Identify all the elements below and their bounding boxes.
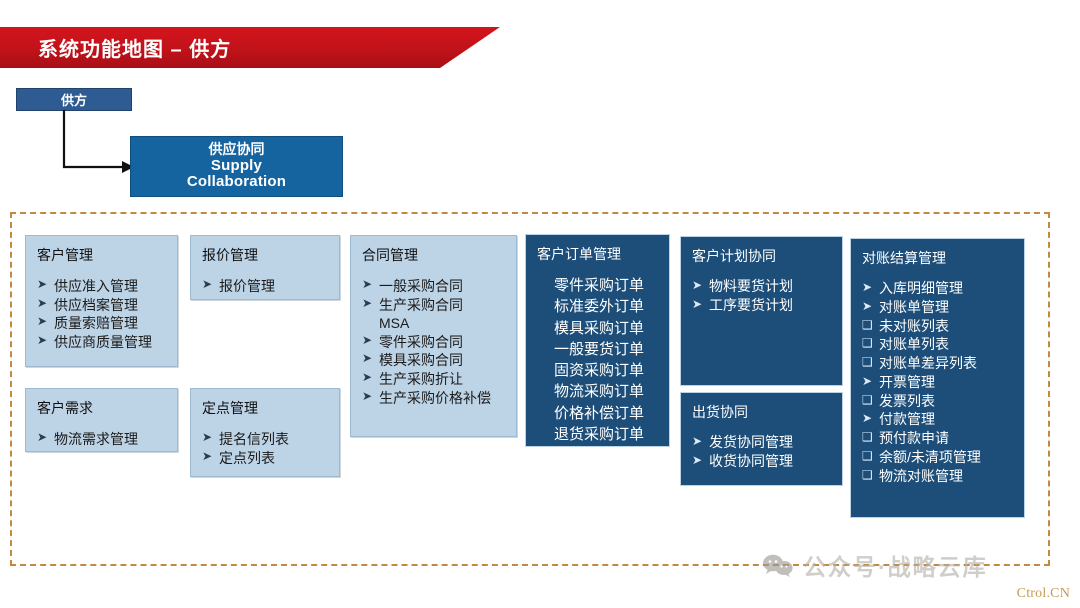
- card-list-item-label: 固资采购订单: [537, 360, 660, 381]
- card-list-item[interactable]: ❑余额/未清项管理: [862, 448, 1015, 467]
- card-list-item[interactable]: ➤零件采购合同: [362, 333, 507, 352]
- card-list-item[interactable]: ➤付款管理: [862, 410, 1015, 429]
- card-item-list: ➤报价管理: [202, 277, 330, 296]
- arrow-bullet-icon: ➤: [202, 277, 219, 293]
- card-list-item[interactable]: ➤供应档案管理: [37, 296, 168, 315]
- arrow-bullet-icon: ➤: [362, 296, 379, 312]
- arrow-bullet-icon: ➤: [862, 298, 879, 314]
- card-item-list: ➤提名信列表➤定点列表: [202, 430, 330, 467]
- card-item-list: ➤一般采购合同➤生产采购合同MSA➤零件采购合同➤模具采购合同➤生产采购折让➤生…: [362, 277, 507, 407]
- supply-collab-line3: Collaboration: [187, 174, 286, 191]
- card-list-item-label: 模具采购合同: [379, 351, 507, 370]
- card-item-list: 零件采购订单标准委外订单模具采购订单一般要货订单固资采购订单物流采购订单价格补偿…: [537, 275, 660, 445]
- square-bullet-icon: ❑: [862, 354, 879, 370]
- card-list-item[interactable]: ➤物流需求管理: [37, 430, 168, 449]
- arrow-bullet-icon: ➤: [37, 333, 54, 349]
- card-list-item[interactable]: ➤质量索赔管理: [37, 314, 168, 333]
- card-list-item-label: 未对账列表: [879, 317, 1015, 336]
- card-list-item-label: 提名信列表: [219, 430, 330, 449]
- card-list-item[interactable]: ❑对账单列表: [862, 335, 1015, 354]
- card-list-item[interactable]: ➤模具采购合同: [362, 351, 507, 370]
- arrow-bullet-icon: ➤: [692, 277, 709, 293]
- title-banner: 系统功能地图 – 供方: [0, 27, 500, 68]
- card-list-item-label: 余额/未清项管理: [879, 448, 1015, 467]
- card-title: 对账结算管理: [862, 248, 1015, 268]
- card-customer-plan-collab[interactable]: 客户计划协同 ➤物料要货计划➤工序要货计划: [680, 236, 843, 386]
- card-list-item[interactable]: ❑发票列表: [862, 392, 1015, 411]
- card-list-item-label: 生产采购折让: [379, 370, 507, 389]
- square-bullet-icon: ❑: [862, 392, 879, 408]
- card-list-item[interactable]: 退货采购订单: [537, 424, 660, 445]
- arrow-bullet-icon: ➤: [862, 279, 879, 295]
- arrow-bullet-icon: ➤: [362, 370, 379, 386]
- card-list-item-label: 供应档案管理: [54, 296, 168, 315]
- card-customer-order-mgmt[interactable]: 客户订单管理 零件采购订单标准委外订单模具采购订单一般要货订单固资采购订单物流采…: [525, 234, 670, 447]
- arrow-bullet-icon: ➤: [37, 430, 54, 446]
- card-list-item-label: 对账单列表: [879, 335, 1015, 354]
- card-quote-mgmt[interactable]: 报价管理 ➤报价管理: [190, 235, 340, 300]
- page-title: 系统功能地图 – 供方: [38, 33, 231, 62]
- card-list-item-label: 生产采购合同: [379, 296, 507, 315]
- card-list-item[interactable]: ❑未对账列表: [862, 317, 1015, 336]
- card-list-item[interactable]: ➤发货协同管理: [692, 433, 833, 452]
- card-list-item[interactable]: 标准委外订单: [537, 296, 660, 317]
- arrow-bullet-icon: ➤: [37, 277, 54, 293]
- card-list-item[interactable]: 固资采购订单: [537, 360, 660, 381]
- card-list-item-label: 模具采购订单: [537, 318, 660, 339]
- arrow-bullet-icon: ➤: [362, 333, 379, 349]
- card-settlement-mgmt[interactable]: 对账结算管理 ➤入库明细管理➤对账单管理❑未对账列表❑对账单列表❑对账单差异列表…: [850, 238, 1025, 518]
- arrow-bullet-icon: ➤: [362, 389, 379, 405]
- card-list-item[interactable]: ➤收货协同管理: [692, 452, 833, 471]
- card-shipping-collab[interactable]: 出货协同 ➤发货协同管理➤收货协同管理: [680, 392, 843, 486]
- card-list-item[interactable]: 价格补偿订单: [537, 403, 660, 424]
- card-item-list: ➤发货协同管理➤收货协同管理: [692, 433, 833, 471]
- arrow-bullet-icon: ➤: [692, 452, 709, 468]
- card-list-item[interactable]: ➤对账单管理: [862, 298, 1015, 317]
- card-list-item[interactable]: ➤一般采购合同: [362, 277, 507, 296]
- square-bullet-icon: ❑: [862, 429, 879, 445]
- card-list-item-label: 零件采购订单: [537, 275, 660, 296]
- card-fixed-point-mgmt[interactable]: 定点管理 ➤提名信列表➤定点列表: [190, 388, 340, 477]
- card-title: 客户订单管理: [537, 244, 660, 264]
- card-item-list: ➤物料要货计划➤工序要货计划: [692, 277, 833, 315]
- arrow-bullet-icon: ➤: [692, 433, 709, 449]
- arrow-bullet-icon: ➤: [202, 430, 219, 446]
- card-list-item[interactable]: 零件采购订单: [537, 275, 660, 296]
- slide-canvas: 系统功能地图 – 供方 供方 供应协同 Supply Collaboration…: [0, 0, 1080, 608]
- card-list-item-label: 对账单差异列表: [879, 354, 1015, 373]
- card-item-list: ➤供应准入管理➤供应档案管理➤质量索赔管理➤供应商质量管理: [37, 277, 168, 351]
- card-list-item[interactable]: 模具采购订单: [537, 318, 660, 339]
- card-list-item[interactable]: ➤物料要货计划: [692, 277, 833, 296]
- card-list-item-label: 入库明细管理: [879, 279, 1015, 298]
- card-list-item-label: 一般采购合同: [379, 277, 507, 296]
- card-list-item[interactable]: ➤生产采购合同: [362, 296, 507, 315]
- card-customer-mgmt[interactable]: 客户管理 ➤供应准入管理➤供应档案管理➤质量索赔管理➤供应商质量管理: [25, 235, 178, 367]
- card-list-item[interactable]: ➤生产采购价格补偿: [362, 389, 507, 408]
- card-list-item[interactable]: ➤供应商质量管理: [37, 333, 168, 352]
- card-list-item-label: 报价管理: [219, 277, 330, 296]
- arrow-bullet-icon: ➤: [692, 296, 709, 312]
- arrow-bullet-icon: ➤: [202, 449, 219, 465]
- supply-collab-line1: 供应协同: [209, 142, 265, 158]
- card-list-item-label: 发票列表: [879, 392, 1015, 411]
- card-list-item-label: 供应准入管理: [54, 277, 168, 296]
- card-title: 定点管理: [202, 398, 330, 418]
- card-list-item[interactable]: ➤开票管理: [862, 373, 1015, 392]
- square-bullet-icon: ❑: [862, 335, 879, 351]
- square-bullet-icon: ❑: [862, 448, 879, 464]
- card-list-item-label: 供应商质量管理: [54, 333, 168, 352]
- card-customer-demand[interactable]: 客户需求 ➤物流需求管理: [25, 388, 178, 452]
- arrow-bullet-icon: ➤: [362, 277, 379, 293]
- card-list-item-label: 开票管理: [879, 373, 1015, 392]
- card-list-item-label: 定点列表: [219, 449, 330, 468]
- card-list-item[interactable]: ➤报价管理: [202, 277, 330, 296]
- card-list-item-label: 物流需求管理: [54, 430, 168, 449]
- card-list-item-label: 物流对账管理: [879, 467, 1015, 486]
- card-item-list: ➤物流需求管理: [37, 430, 168, 449]
- card-list-item-label: 对账单管理: [879, 298, 1015, 317]
- card-list-item-label: 零件采购合同: [379, 333, 507, 352]
- card-list-item[interactable]: ➤定点列表: [202, 449, 330, 468]
- card-title: 客户管理: [37, 245, 168, 265]
- square-bullet-icon: ❑: [862, 317, 879, 333]
- card-list-item-label: 退货采购订单: [537, 424, 660, 445]
- supplier-node: 供方: [16, 88, 132, 111]
- card-title: 合同管理: [362, 245, 507, 265]
- card-list-item[interactable]: ➤入库明细管理: [862, 279, 1015, 298]
- card-list-item[interactable]: ➤生产采购折让: [362, 370, 507, 389]
- corner-attribution: Ctrol.CN: [1017, 586, 1070, 602]
- card-item-list: ➤入库明细管理➤对账单管理❑未对账列表❑对账单列表❑对账单差异列表➤开票管理❑发…: [862, 279, 1015, 485]
- card-list-item[interactable]: ❑物流对账管理: [862, 467, 1015, 486]
- arrow-bullet-icon: ➤: [362, 351, 379, 367]
- card-list-item-label: 预付款申请: [879, 429, 1015, 448]
- card-list-item-label: 发货协同管理: [709, 433, 833, 452]
- arrow-bullet-icon: ➤: [862, 410, 879, 426]
- card-list-item[interactable]: 一般要货订单: [537, 339, 660, 360]
- card-list-item-label: 物料要货计划: [709, 277, 833, 296]
- card-list-item[interactable]: ❑预付款申请: [862, 429, 1015, 448]
- arrow-bullet-icon: ➤: [862, 373, 879, 389]
- supplier-node-label: 供方: [61, 90, 87, 109]
- card-list-item[interactable]: ➤提名信列表: [202, 430, 330, 449]
- card-list-item[interactable]: 物流采购订单: [537, 381, 660, 402]
- watermark: 公众号·战略云库: [762, 548, 988, 582]
- card-title: 客户需求: [37, 398, 168, 418]
- connector-arrow-icon: [60, 110, 140, 182]
- card-list-item-label: 物流采购订单: [537, 381, 660, 402]
- supply-collab-line2: Supply: [211, 158, 262, 175]
- card-list-item-label: 标准委外订单: [537, 296, 660, 317]
- supply-collaboration-node: 供应协同 Supply Collaboration: [130, 136, 343, 197]
- card-title: 出货协同: [692, 402, 833, 422]
- card-title: 报价管理: [202, 245, 330, 265]
- arrow-bullet-icon: ➤: [37, 296, 54, 312]
- card-list-item[interactable]: MSA: [362, 314, 507, 333]
- card-contract-mgmt[interactable]: 合同管理 ➤一般采购合同➤生产采购合同MSA➤零件采购合同➤模具采购合同➤生产采…: [350, 235, 517, 437]
- watermark-text: 公众号·战略云库: [803, 548, 988, 582]
- arrow-bullet-icon: ➤: [37, 314, 54, 330]
- card-list-item-label: 工序要货计划: [709, 296, 833, 315]
- card-list-item-label: 生产采购价格补偿: [379, 389, 507, 408]
- card-list-item-label: 价格补偿订单: [537, 403, 660, 424]
- card-list-item-label: MSA: [362, 314, 507, 333]
- card-title: 客户计划协同: [692, 246, 833, 266]
- wechat-icon: [762, 553, 794, 577]
- card-list-item-label: 付款管理: [879, 410, 1015, 429]
- card-list-item[interactable]: ➤工序要货计划: [692, 296, 833, 315]
- square-bullet-icon: ❑: [862, 467, 879, 483]
- card-list-item-label: 一般要货订单: [537, 339, 660, 360]
- card-list-item-label: 质量索赔管理: [54, 314, 168, 333]
- card-list-item-label: 收货协同管理: [709, 452, 833, 471]
- card-list-item[interactable]: ➤供应准入管理: [37, 277, 168, 296]
- card-list-item[interactable]: ❑对账单差异列表: [862, 354, 1015, 373]
